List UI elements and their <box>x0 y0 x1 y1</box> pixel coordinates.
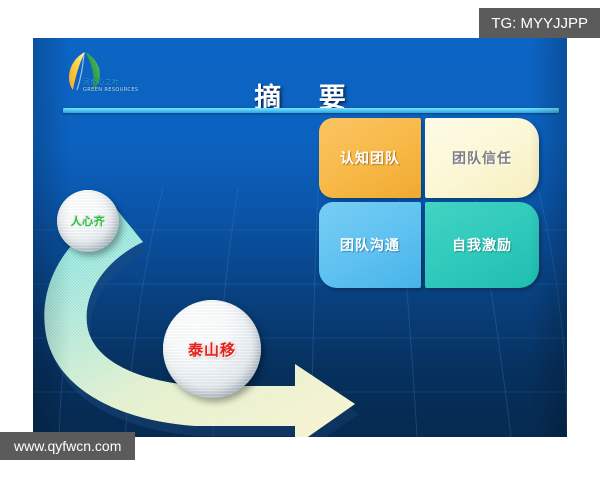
topic-box-trust[interactable]: 团队信任 <box>425 118 539 198</box>
topic-box-cognition-label: 认知团队 <box>340 148 400 168</box>
topic-box-motivation[interactable]: 自我激励 <box>425 202 539 288</box>
topic-box-trust-label: 团队信任 <box>452 148 512 168</box>
watermark-telegram: TG: MYYJJPP <box>479 8 600 38</box>
title-divider-rule <box>63 108 559 113</box>
sphere-move-label: 泰山移 <box>188 339 236 360</box>
topic-box-communication[interactable]: 团队沟通 <box>319 202 421 288</box>
topic-box-communication-label: 团队沟通 <box>340 235 400 255</box>
presentation-slide: 河南心之叶 GREEN RESOURCES 摘 要 认知团队 团队信任 团队沟通… <box>33 38 567 437</box>
watermark-website: www.qyfwcn.com <box>0 432 135 460</box>
topic-box-cognition[interactable]: 认知团队 <box>319 118 421 198</box>
sphere-move: 泰山移 <box>163 300 261 398</box>
topic-box-motivation-label: 自我激励 <box>452 235 512 255</box>
sphere-unity-label: 人心齐 <box>71 213 106 229</box>
sphere-unity: 人心齐 <box>57 190 119 252</box>
